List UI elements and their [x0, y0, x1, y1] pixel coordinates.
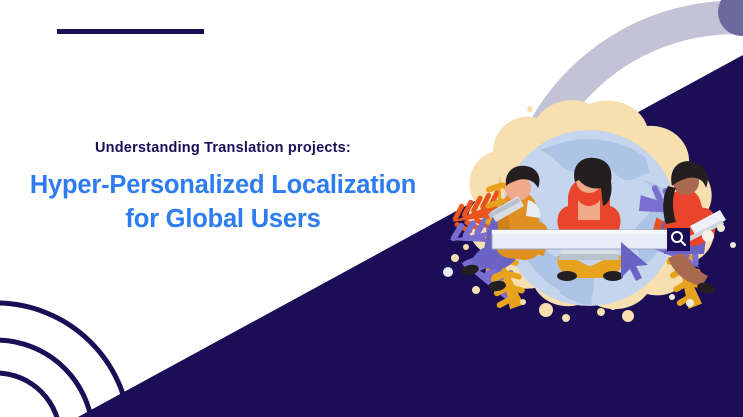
eyebrow-text: Understanding Translation projects:	[0, 140, 446, 157]
slide-canvas: Understanding Translation projects: Hype…	[0, 0, 743, 417]
top-left-rule	[57, 29, 204, 34]
corner-arc-2	[0, 340, 93, 417]
title-block: Understanding Translation projects: Hype…	[0, 140, 446, 237]
page-title: Hyper-Personalized Localization for Glob…	[0, 169, 446, 237]
corner-arc-3	[0, 373, 60, 417]
headline-line-1: Hyper-Personalized Localization	[0, 169, 446, 203]
corner-arc-1	[0, 303, 130, 417]
headline-line-2: for Global Users	[0, 203, 446, 237]
